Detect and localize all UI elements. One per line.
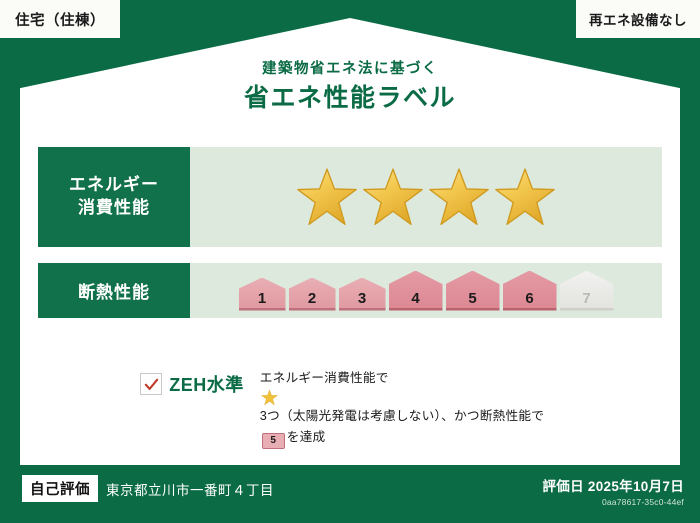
zeh-description-part3: を達成 [287, 430, 326, 444]
star-icon [261, 389, 278, 406]
label-title-block: 建築物省エネ法に基づく 省エネ性能ラベル [0, 62, 700, 112]
insulation-badge-number: 5 [468, 290, 476, 311]
insulation-performance-row-header: 断熱性能 [38, 263, 190, 318]
energy-performance-row-body [190, 147, 662, 247]
insulation-badge-scale: 1234567 [239, 271, 614, 311]
label-footer: 自己評価 東京都立川市一番町４丁目 評価日 2025年10月7日 0aa7861… [0, 465, 700, 523]
insulation-badge-number: 3 [358, 290, 366, 311]
energy-performance-label-line2: 消費性能 [78, 197, 150, 220]
star-rating [296, 166, 556, 228]
zeh-description-part1: エネルギー消費性能で [260, 371, 389, 385]
insulation-badge-number: 6 [525, 290, 533, 311]
self-evaluation-badge: 自己評価 [22, 475, 98, 502]
zeh-checkbox-group: ZEH水準 [140, 368, 244, 397]
insulation-badge-3: 3 [339, 278, 386, 311]
zeh-checkbox [140, 373, 162, 395]
insulation-badge-number: 7 [582, 290, 590, 311]
insulation-badge-number: 4 [411, 290, 419, 311]
insulation-performance-row: 断熱性能 1234567 [38, 263, 662, 318]
insulation-badge-2: 2 [289, 278, 336, 311]
insulation-performance-row-body: 1234567 [190, 263, 662, 318]
label-subtitle: 建築物省エネ法に基づく [0, 62, 700, 78]
insulation-badge-5: 5 [446, 271, 500, 311]
building-type-tag: 住宅（住棟） [0, 0, 120, 38]
zeh-description: エネルギー消費性能で3つ（太陽光発電は考慮しない）、かつ断熱性能で5を達成 [260, 368, 560, 449]
insulation-badge-4: 4 [389, 271, 443, 311]
building-type-tag-label: 住宅（住棟） [15, 9, 105, 30]
insulation-performance-label: 断熱性能 [78, 278, 150, 303]
star-icon [362, 166, 424, 228]
energy-performance-row-header: エネルギー 消費性能 [38, 147, 190, 247]
property-address: 東京都立川市一番町４丁目 [106, 479, 274, 499]
evaluation-date: 評価日 2025年10月7日 [542, 475, 684, 495]
renewable-energy-tag: 再エネ設備なし [576, 0, 700, 38]
insulation-badge-number: 2 [308, 290, 316, 311]
zeh-description-part2: 3つ（太陽光発電は考慮しない）、かつ断熱性能で [260, 409, 544, 423]
label-main-title: 省エネ性能ラベル [0, 85, 700, 113]
insulation-badge-number: 1 [258, 290, 266, 311]
check-icon [144, 377, 159, 392]
zeh-insulation-badge: 5 [262, 433, 285, 449]
evaluation-id: 0aa78617-35c0-44ef [542, 497, 684, 507]
renewable-energy-tag-label: 再エネ設備なし [589, 9, 687, 29]
zeh-standard-block: ZEH水準 エネルギー消費性能で3つ（太陽光発電は考慮しない）、かつ断熱性能で5… [38, 368, 662, 449]
insulation-badge-6: 6 [503, 271, 557, 311]
energy-performance-label-line1: エネルギー [69, 174, 159, 197]
star-icon [428, 166, 490, 228]
energy-performance-row: エネルギー 消費性能 [38, 147, 662, 247]
footer-right-group: 評価日 2025年10月7日 0aa78617-35c0-44ef [542, 475, 684, 507]
insulation-badge-7: 7 [560, 271, 614, 311]
star-icon [494, 166, 556, 228]
footer-left-group: 自己評価 東京都立川市一番町４丁目 [22, 475, 274, 502]
zeh-standard-label: ZEH水準 [169, 371, 244, 397]
insulation-badge-1: 1 [239, 278, 286, 311]
energy-performance-label: 住宅（住棟） 再エネ設備なし 建築物省エネ法に基づく 省エネ性能ラベル エネルギ… [0, 0, 700, 523]
star-icon [296, 166, 358, 228]
